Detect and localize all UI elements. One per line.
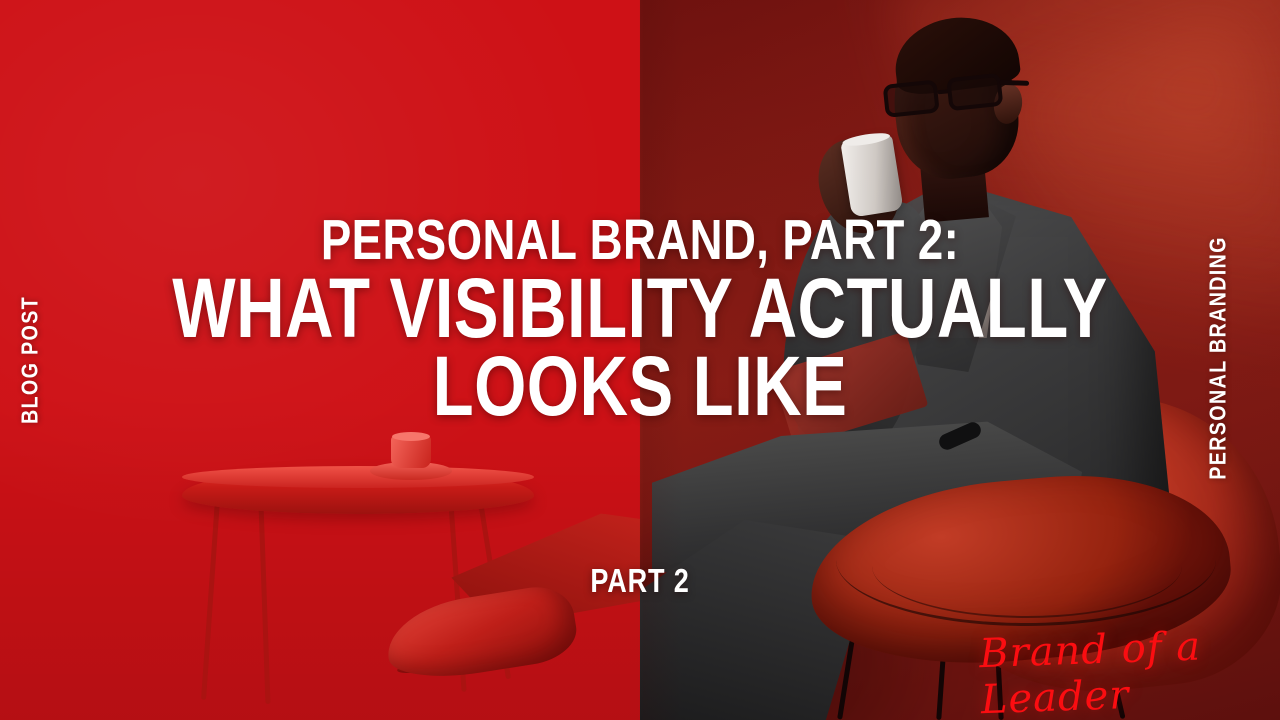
side-table-rim bbox=[182, 466, 534, 488]
blog-post-banner: PERSONAL BRAND, PART 2: WHAT VISIBILITY … bbox=[0, 0, 1280, 720]
coffee-cup-held-icon bbox=[840, 134, 903, 217]
page-title: PERSONAL BRAND, PART 2: WHAT VISIBILITY … bbox=[0, 214, 1280, 425]
lens-left bbox=[883, 79, 940, 117]
left-rail-category-label: BLOG POST bbox=[17, 296, 44, 424]
brand-signature-logo: Brand of a Leader bbox=[978, 621, 1280, 720]
table-leg-icon bbox=[201, 500, 220, 700]
part-kicker: PART 2 bbox=[115, 562, 1165, 600]
right-rail-topic-label: PERSONAL BRANDING bbox=[1205, 236, 1232, 480]
glasses-temple bbox=[999, 80, 1029, 86]
headline-line-3: LOOKS LIKE bbox=[128, 347, 1152, 425]
coffee-cup-icon bbox=[391, 436, 431, 468]
table-leg-icon bbox=[259, 504, 271, 704]
lens-right bbox=[946, 73, 1003, 111]
headline-line-2: WHAT VISIBILITY ACTUALLY bbox=[128, 269, 1152, 347]
headline-line-1: PERSONAL BRAND, PART 2: bbox=[128, 214, 1152, 267]
